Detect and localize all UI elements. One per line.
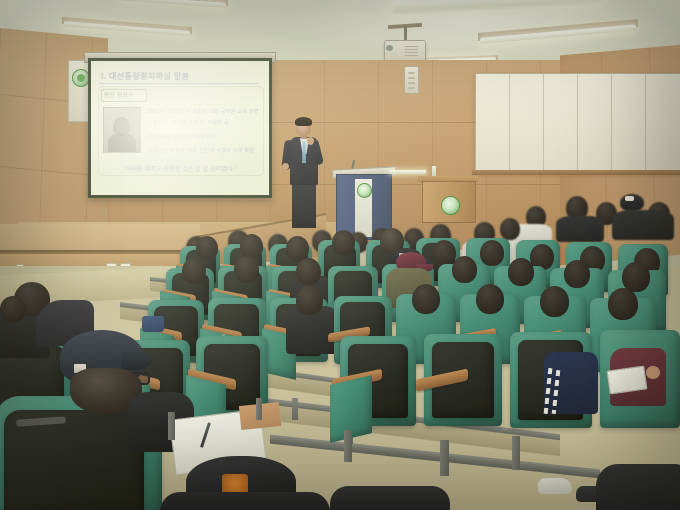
audience-head xyxy=(196,236,218,260)
hand xyxy=(646,366,660,379)
audience-head xyxy=(296,258,321,285)
whiteboard xyxy=(475,73,680,173)
audience-head xyxy=(564,260,590,288)
audience-head xyxy=(296,286,323,315)
screen-surface: Ⅰ. 대선통령령지하심 말씀 중산 정상구 2002년 국가혁신위 위원장 대통… xyxy=(91,61,269,195)
shoe xyxy=(538,478,572,494)
audience-head xyxy=(476,284,504,314)
seat-leg xyxy=(256,398,262,420)
seat-leg xyxy=(344,430,352,462)
projection-screen: Ⅰ. 대선통령령지하심 말씀 중산 정상구 2002년 국가혁신위 위원장 대통… xyxy=(88,58,272,198)
portrait-body xyxy=(108,134,136,152)
whiteboard-rail xyxy=(472,170,680,175)
slide-subheading: 중산 정상구 xyxy=(104,90,133,99)
audience-head xyxy=(608,288,638,320)
presenter-right-hand xyxy=(307,137,314,145)
presenter-hair xyxy=(295,117,312,126)
presenter-legs xyxy=(292,183,316,228)
audience-head xyxy=(182,258,206,284)
cap-logo xyxy=(625,196,634,201)
presenter-left-hand xyxy=(282,163,289,170)
seat-leg xyxy=(168,412,175,440)
slide-bullet-2: 정보화, 세계화, 지방화, 자율화 등 xyxy=(153,119,229,126)
step-bracket-1 xyxy=(292,398,298,420)
audience-head xyxy=(500,218,520,240)
audience-head xyxy=(412,284,440,314)
auditorium-photo: Ⅰ. 대선통령령지하심 말씀 중산 정상구 2002년 국가혁신위 위원장 대통… xyxy=(0,0,680,510)
podium-emblem-icon xyxy=(357,183,372,198)
side-lectern-emblem-icon xyxy=(441,196,460,215)
wall-speaker-icon xyxy=(404,66,419,94)
side-lectern xyxy=(422,181,476,223)
audience-jacket xyxy=(556,216,604,242)
audience-head xyxy=(480,240,504,266)
audience-shoulder xyxy=(596,464,680,510)
audience-head xyxy=(0,296,26,322)
slide-title: Ⅰ. 대선통령령지하심 말씀 xyxy=(101,71,251,82)
audience-head xyxy=(508,258,534,286)
podium-front-panel xyxy=(355,179,372,237)
slide-title-rule xyxy=(99,83,259,84)
audience-shoulder xyxy=(160,492,330,510)
emblem-inner-icon xyxy=(77,74,85,82)
bag xyxy=(142,316,164,332)
audience-head xyxy=(332,230,355,255)
stage-light-strip xyxy=(390,170,426,174)
projector-lens xyxy=(386,45,393,51)
audience-head xyxy=(540,286,569,317)
slide-portrait-photo xyxy=(103,107,141,153)
seat-leg xyxy=(440,440,449,476)
audience-head xyxy=(234,256,259,283)
audience-jacket xyxy=(612,210,674,240)
slide-bullet-3: 지식정보화 논의의 개념들이다. xyxy=(147,133,217,140)
audience-head xyxy=(432,240,456,266)
audience-shoulder xyxy=(330,486,450,510)
slide-bullet-1: 2002년 국가혁신위 위원장 대통 공무원 교육 강연 xyxy=(147,108,259,115)
seat-leg xyxy=(512,436,520,470)
audience-head xyxy=(452,256,477,283)
slide-bullet-4: 21세기는 지식의 시대, 한민의 사업의 시대 확장 xyxy=(147,147,254,154)
slide-quote: “미래를 에치고 진정한 것은 잘 할 것이었다.” xyxy=(115,164,245,173)
